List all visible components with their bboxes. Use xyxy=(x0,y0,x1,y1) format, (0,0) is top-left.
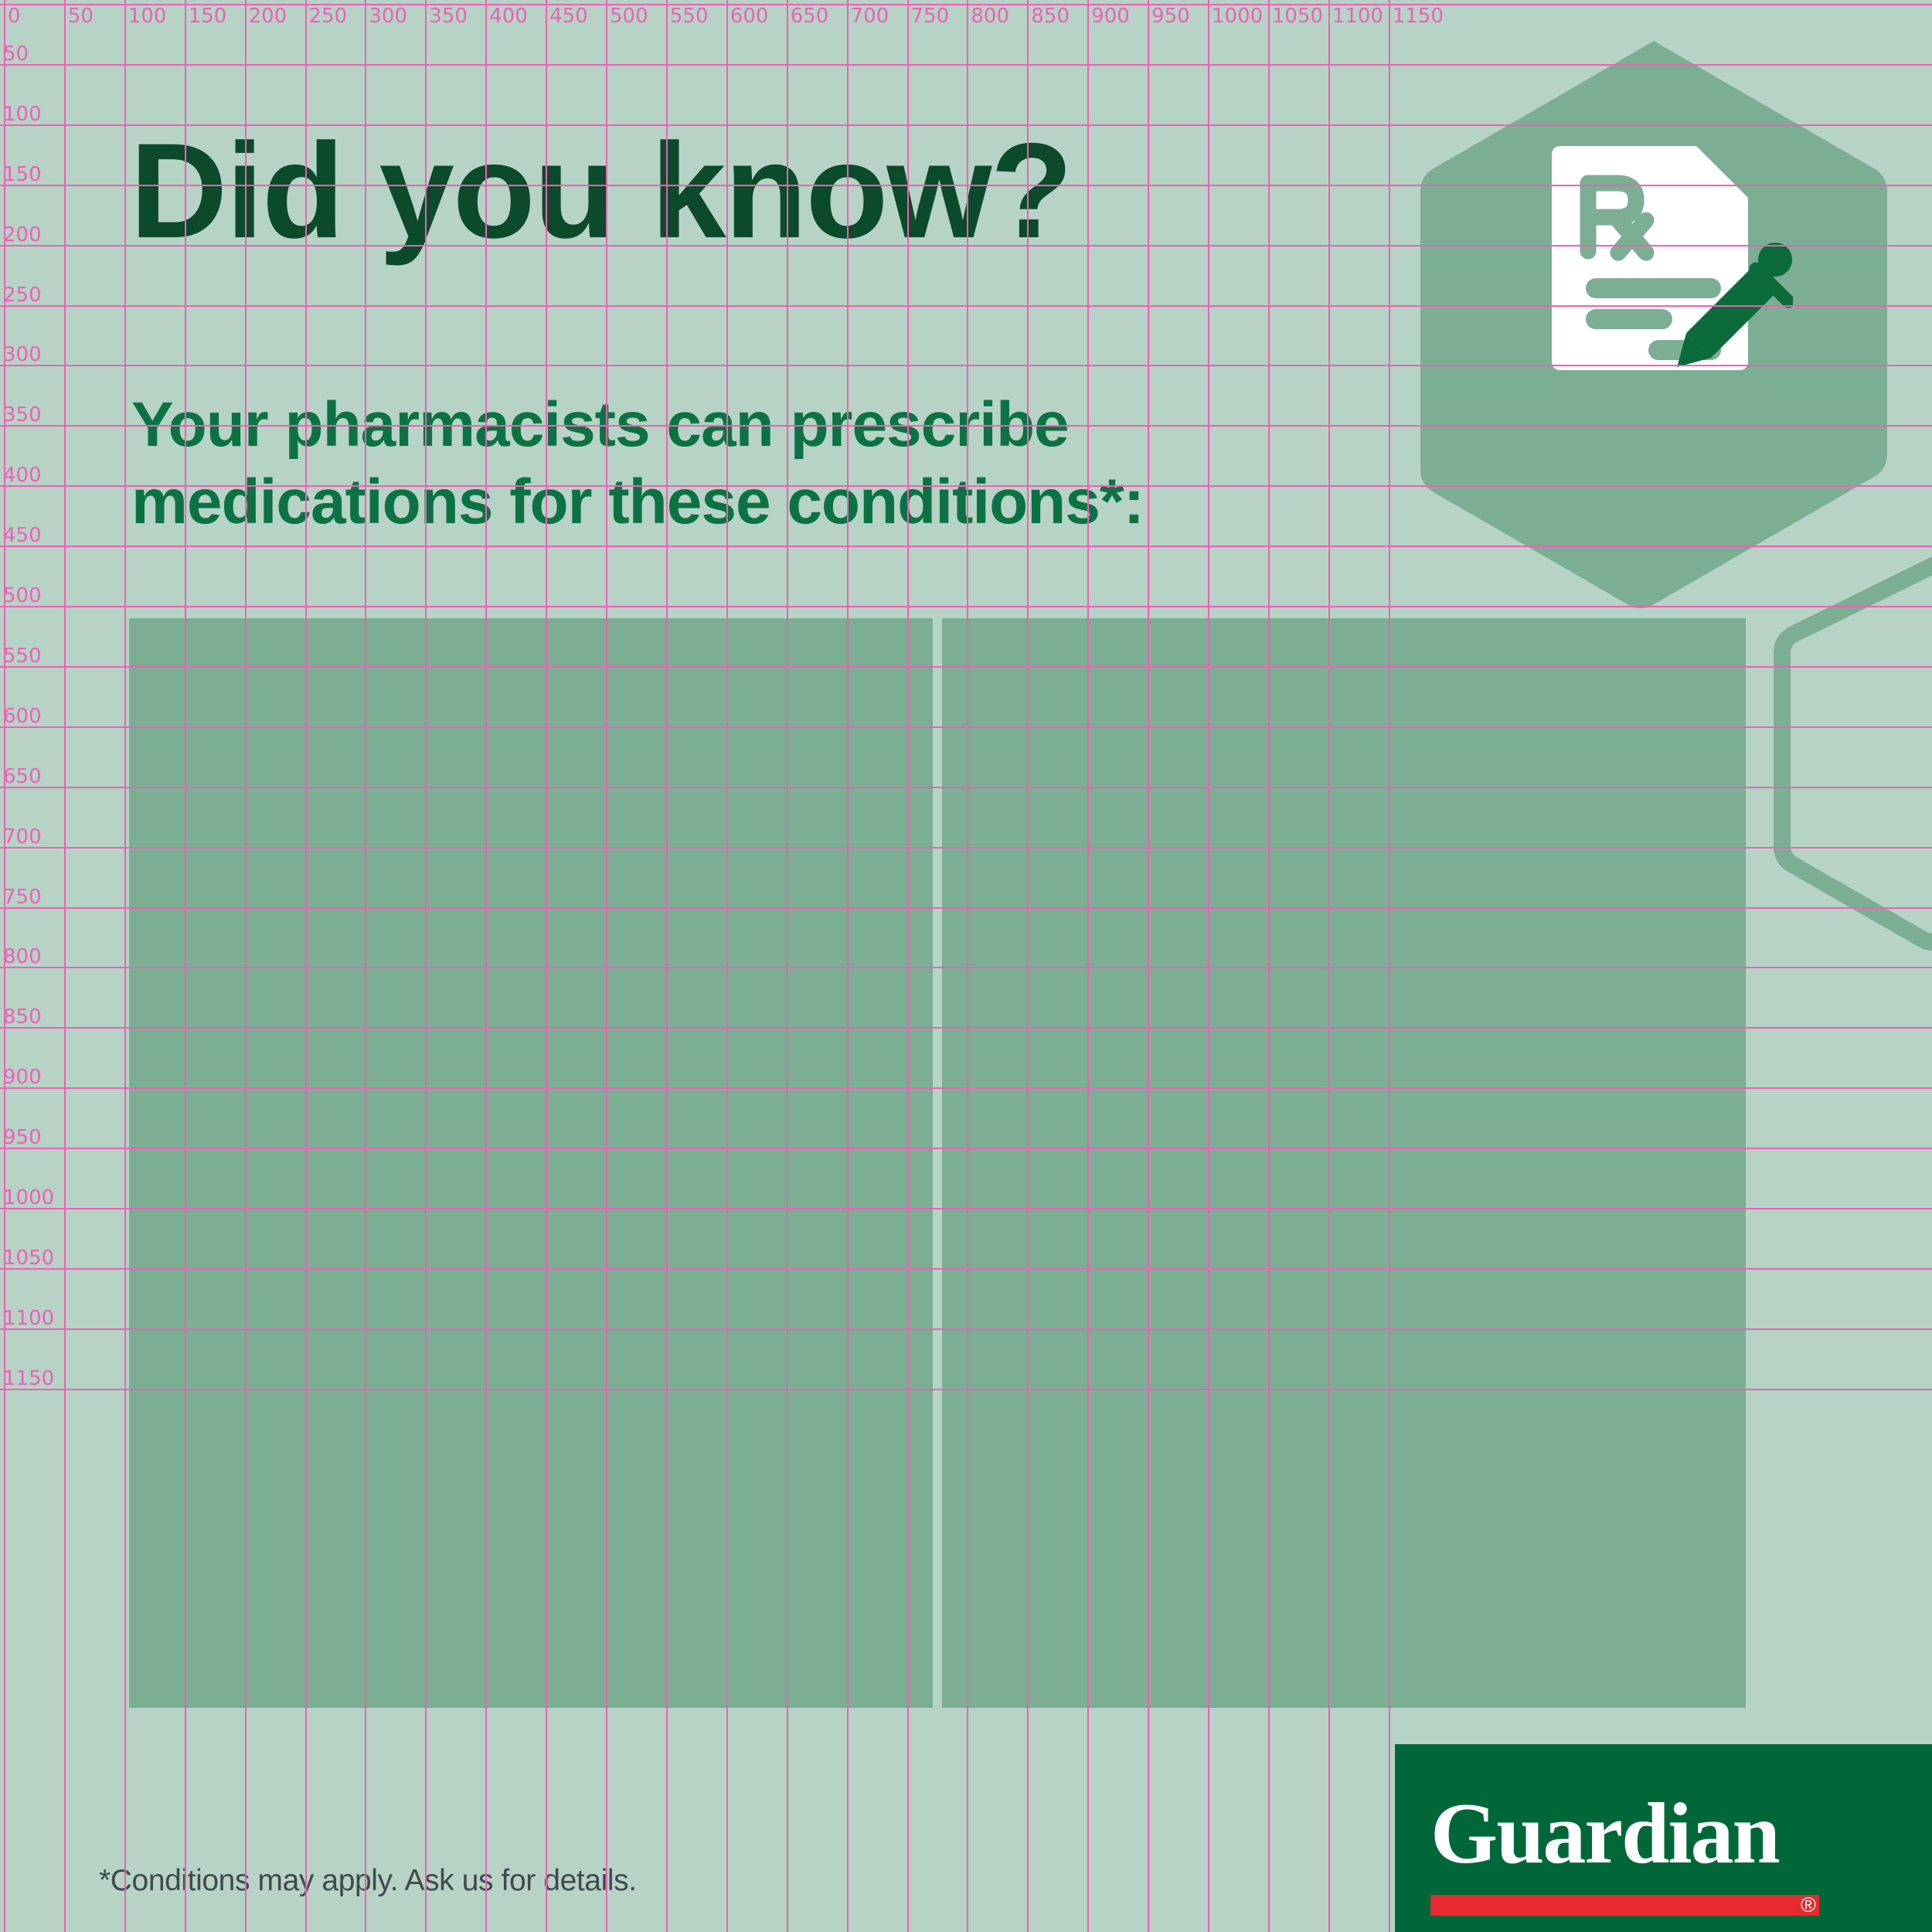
grid-label-x: 350 xyxy=(429,6,468,26)
subtitle-line-1: Your pharmacists can prescribe xyxy=(131,389,1069,460)
grid-label-y: 1150 xyxy=(3,1369,54,1389)
grid-label-y: 750 xyxy=(3,887,42,907)
grid-label-y: 650 xyxy=(3,767,42,787)
grid-line-horizontal xyxy=(0,4,1932,5)
poster-canvas: Did you know? Your pharmacists can presc… xyxy=(0,0,1932,1932)
grid-label-x: 800 xyxy=(971,6,1009,26)
grid-line-horizontal xyxy=(0,365,1932,366)
grid-label-x: 1150 xyxy=(1393,6,1444,26)
grid-label-y: 300 xyxy=(3,345,42,365)
grid-label-y: 950 xyxy=(3,1128,42,1148)
grid-label-y: 150 xyxy=(3,165,42,185)
grid-label-x: 450 xyxy=(549,6,588,26)
grid-label-x: 100 xyxy=(128,6,167,26)
grid-label-x: 700 xyxy=(851,6,889,26)
grid-label-x: 1000 xyxy=(1212,6,1263,26)
page-title: Did you know? xyxy=(130,124,1071,259)
grid-label-x: 1100 xyxy=(1332,6,1383,26)
grid-label-x: 150 xyxy=(189,6,227,26)
grid-label-x: 550 xyxy=(670,6,709,26)
grid-label-y: 900 xyxy=(3,1067,42,1087)
content-panel-right xyxy=(942,618,1746,1708)
grid-label-y: 400 xyxy=(3,465,42,485)
grid-line-vertical xyxy=(4,0,5,1932)
grid-label-y: 200 xyxy=(3,225,42,245)
pencil-icon xyxy=(1677,243,1792,367)
grid-label-y: 250 xyxy=(3,285,42,305)
subtitle-line-2: medications for these conditions*: xyxy=(131,467,1144,537)
grid-label-y: 1000 xyxy=(3,1188,54,1208)
grid-label-y: 550 xyxy=(3,646,42,666)
grid-label-y: 350 xyxy=(3,405,42,425)
grid-label-y: 450 xyxy=(3,526,42,546)
grid-label-x: 600 xyxy=(730,6,769,26)
grid-label-x: 300 xyxy=(369,6,407,26)
rx-prescription-document-icon xyxy=(1546,143,1793,398)
hexagon-outline-icon xyxy=(1770,549,1932,951)
content-panel-area xyxy=(129,618,1746,1708)
grid-label-y: 500 xyxy=(3,586,42,606)
grid-line-horizontal xyxy=(0,305,1932,307)
grid-label-y: 700 xyxy=(3,827,42,847)
grid-label-y: 600 xyxy=(3,706,42,726)
grid-line-vertical xyxy=(64,0,66,1932)
grid-label-y: 50 xyxy=(3,44,29,64)
grid-label-x: 0 xyxy=(8,6,21,26)
grid-label-x: 850 xyxy=(1031,6,1070,26)
grid-line-horizontal xyxy=(0,606,1932,607)
hexagon-badge-icon xyxy=(1414,35,1893,611)
grid-label-x: 750 xyxy=(911,6,950,26)
footnote-text: *Conditions may apply. Ask us for detail… xyxy=(99,1864,637,1898)
grid-label-x: 200 xyxy=(249,6,287,26)
grid-label-y: 1100 xyxy=(3,1308,54,1328)
grid-label-x: 250 xyxy=(309,6,348,26)
content-panel-left xyxy=(129,618,933,1708)
grid-line-horizontal xyxy=(0,546,1932,547)
grid-label-y: 100 xyxy=(3,104,42,124)
grid-label-x: 1050 xyxy=(1272,6,1323,26)
grid-label-x: 950 xyxy=(1151,6,1190,26)
guardian-logo: Guardian ® xyxy=(1395,1744,1932,1932)
grid-label-y: 800 xyxy=(3,947,42,967)
grid-label-x: 900 xyxy=(1091,6,1130,26)
grid-label-y: 1050 xyxy=(3,1248,54,1268)
grid-label-x: 500 xyxy=(610,6,648,26)
grid-line-vertical xyxy=(124,0,126,1932)
grid-label-x: 650 xyxy=(791,6,829,26)
grid-label-y: 850 xyxy=(3,1007,42,1027)
grid-label-x: 50 xyxy=(68,6,94,26)
guardian-wordmark: Guardian xyxy=(1430,1791,1779,1877)
guardian-red-bar xyxy=(1430,1895,1819,1916)
grid-label-y: 0 xyxy=(3,0,16,4)
registered-trademark-icon: ® xyxy=(1796,1893,1821,1917)
grid-label-x: 400 xyxy=(489,6,528,26)
grid-line-horizontal xyxy=(0,64,1932,66)
page-subtitle: Your pharmacists can prescribe medicatio… xyxy=(131,386,1144,541)
